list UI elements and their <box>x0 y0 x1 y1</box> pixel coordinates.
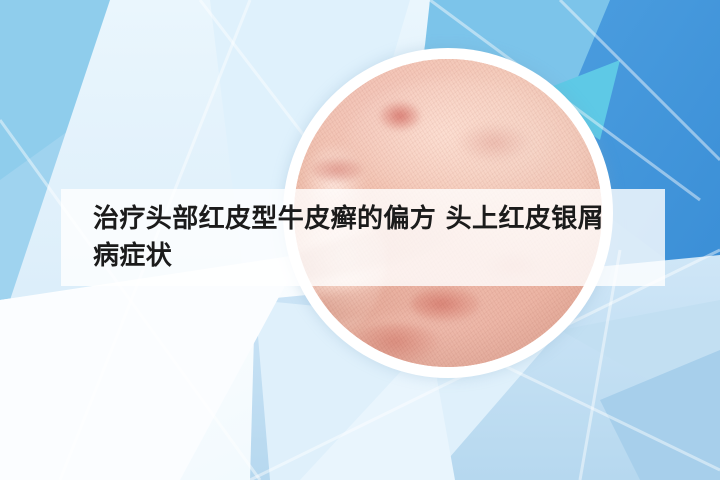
page-title: 治疗头部红皮型牛皮癣的偏方 头上红皮银屑 病症状 <box>61 201 604 275</box>
title-band: 治疗头部红皮型牛皮癣的偏方 头上红皮银屑 病症状 <box>61 189 665 286</box>
thumbnail-canvas: 治疗头部红皮型牛皮癣的偏方 头上红皮银屑 病症状 <box>0 0 720 480</box>
